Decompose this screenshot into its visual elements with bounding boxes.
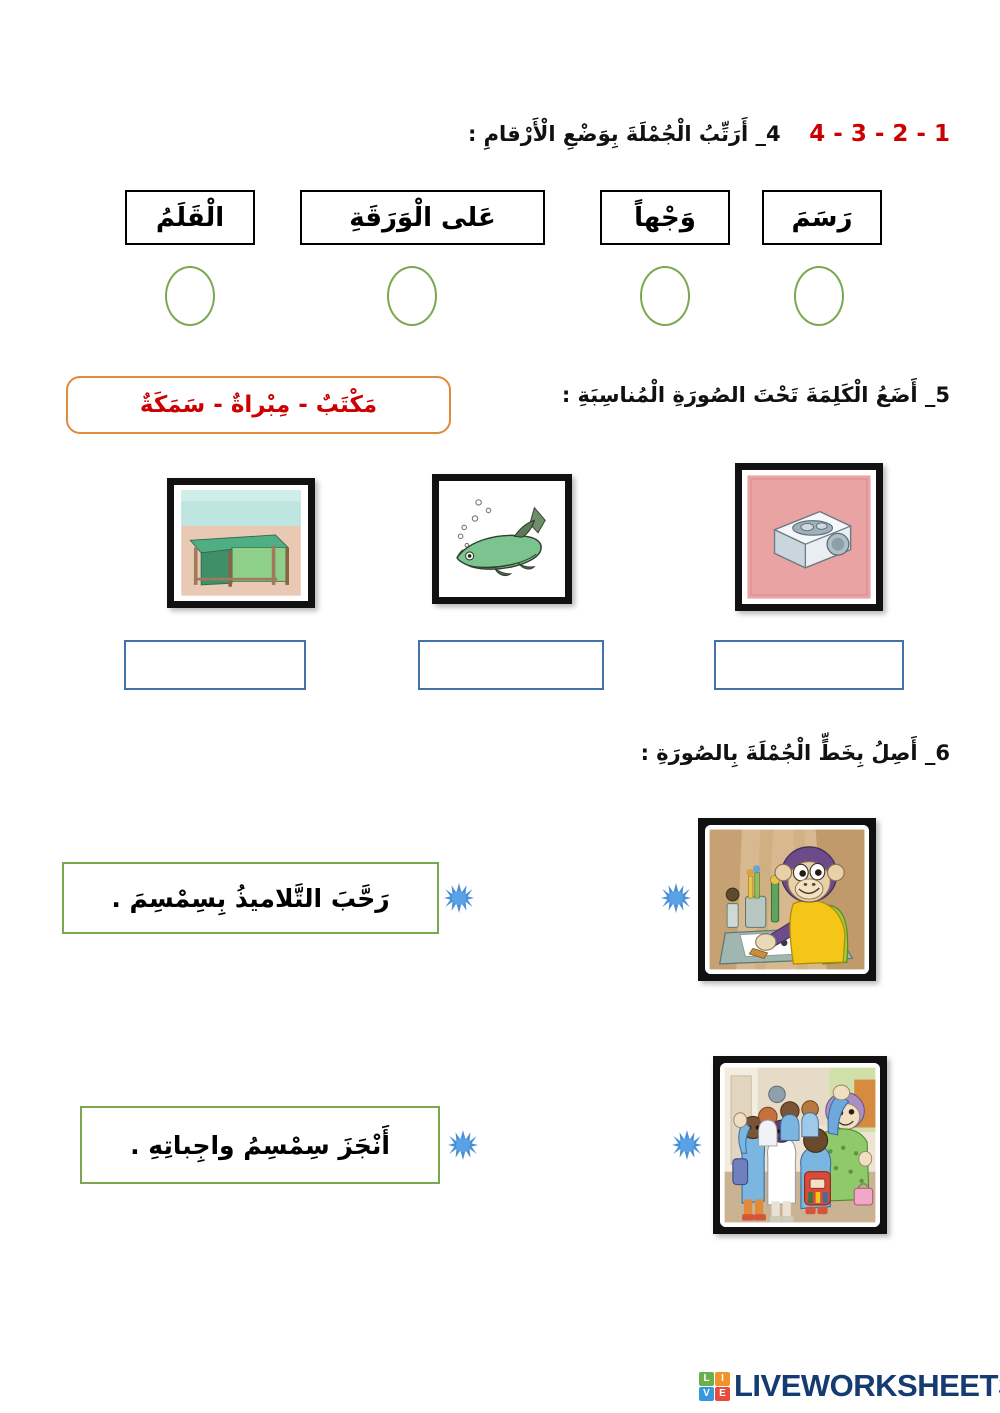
worksheet-page: 1 - 2 - 3 - 4 4_ أَرَتِّبُ الْجُمْلَةَ ب… xyxy=(0,0,1000,1413)
liveworksheets-logo[interactable]: L I V E LIVEWORKSHEETS xyxy=(699,1368,1000,1404)
word-box-rasama[interactable]: رَسَمَ xyxy=(762,190,882,245)
connector-star-left-1[interactable] xyxy=(444,883,474,913)
logo-tile-l: L xyxy=(699,1372,714,1386)
logo-tile-e: E xyxy=(715,1387,730,1401)
question-5-heading-text: 5_ أَضَعُ الْكَلِمَةَ تَحْتَ الصُورَةِ ا… xyxy=(562,383,950,407)
monkey-homework-picture xyxy=(698,818,876,981)
desk-picture xyxy=(167,478,315,608)
sharpener-picture xyxy=(735,463,883,611)
question-6-heading: 6_ أَصِلُ بِخَطٍّ الْجُمْلَةَ بِالصُورَة… xyxy=(641,740,950,766)
word-box-alawaraqah[interactable]: عَلى الْوَرَقَةِ xyxy=(300,190,545,245)
question-4-heading-text: 4_ أَرَتِّبُ الْجُمْلَةَ بِوَضْعِ الْأَر… xyxy=(468,122,781,146)
answer-oval-1[interactable] xyxy=(794,266,844,326)
word-box-wajhan[interactable]: وَجْهاً xyxy=(600,190,730,245)
connector-star-left-2[interactable] xyxy=(448,1130,478,1160)
question-6-heading-text: 6_ أَصِلُ بِخَطٍّ الْجُمْلَةَ بِالصُورَة… xyxy=(641,741,950,765)
word-box-alqalamu[interactable]: الْقَلَمُ xyxy=(125,190,255,245)
word-box-label: رَسَمَ xyxy=(792,203,853,233)
logo-tiles: L I V E xyxy=(699,1372,730,1401)
logo-tile-v: V xyxy=(699,1387,714,1401)
connector-star-right-2[interactable] xyxy=(672,1130,702,1160)
question-5-word-bank: مَكْتَبٌ - مِبْراةٌ - سَمَكَةٌ xyxy=(66,376,451,434)
answer-input-1[interactable] xyxy=(124,640,306,690)
monkey-homework-illustration xyxy=(705,825,869,974)
sentence-box-1[interactable]: رَحَّبَ التَّلاميذُ بِسِمْسِمَ . xyxy=(62,862,439,934)
logo-wordmark: LIVEWORKSHEETS xyxy=(734,1368,1000,1404)
fish-picture xyxy=(432,474,572,604)
children-welcome-illustration xyxy=(720,1063,880,1227)
answer-input-2[interactable] xyxy=(418,640,604,690)
sentence-text: أَنْجَزَ سِمْسِمُ واجِباتِهِ . xyxy=(130,1131,390,1160)
answer-oval-2[interactable] xyxy=(640,266,690,326)
question-4-heading: 1 - 2 - 3 - 4 4_ أَرَتِّبُ الْجُمْلَةَ ب… xyxy=(468,120,950,149)
sentence-box-2[interactable]: أَنْجَزَ سِمْسِمُ واجِباتِهِ . xyxy=(80,1106,440,1184)
answer-input-3[interactable] xyxy=(714,640,904,690)
sentence-text: رَحَّبَ التَّلاميذُ بِسِمْسِمَ . xyxy=(111,884,389,913)
desk-illustration xyxy=(174,485,308,601)
children-welcome-picture xyxy=(713,1056,887,1234)
logo-tile-i: I xyxy=(715,1372,730,1386)
question-5-heading: 5_ أَضَعُ الْكَلِمَةَ تَحْتَ الصُورَةِ ا… xyxy=(562,382,950,408)
word-box-label: وَجْهاً xyxy=(634,203,696,233)
answer-oval-3[interactable] xyxy=(387,266,437,326)
question-4-numbers-hint: 1 - 2 - 3 - 4 xyxy=(809,121,950,147)
word-box-label: عَلى الْوَرَقَةِ xyxy=(349,203,495,233)
answer-oval-4[interactable] xyxy=(165,266,215,326)
word-bank-text: مَكْتَبٌ - مِبْراةٌ - سَمَكَةٌ xyxy=(140,392,377,418)
connector-star-right-1[interactable] xyxy=(661,883,691,913)
sharpener-illustration xyxy=(742,470,876,604)
fish-illustration xyxy=(439,481,565,597)
word-box-label: الْقَلَمُ xyxy=(156,203,224,233)
